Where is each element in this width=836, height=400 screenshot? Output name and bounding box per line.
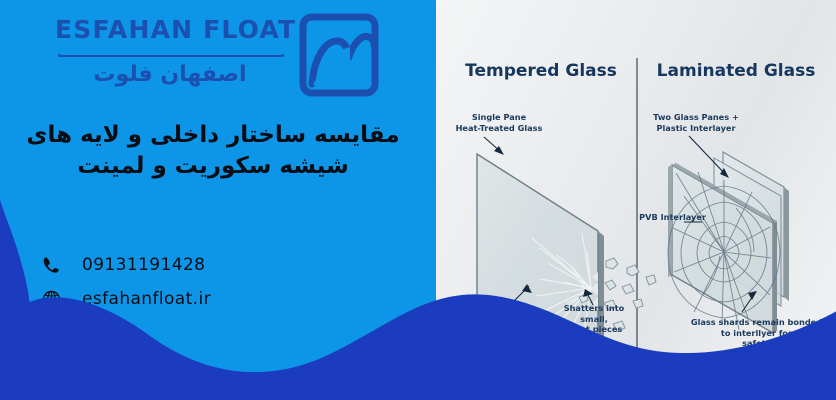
tempered-glass-title: Tempered Glass [446,61,636,81]
laminated-glass-title: Laminated Glass [641,61,831,81]
laminated-glass-illustration [668,136,789,333]
esfahan-float-swoosh-logo-icon [298,13,380,101]
laminated-bonded-annotation: Glass shards remain bondedto interllyer … [684,317,829,349]
contact-website-row[interactable]: esfahanfloat.ir [38,282,298,316]
brand-panel: ESFAHAN FLOAT اصفهان فلوت مقایسه ساختار … [0,0,436,400]
left-edge-blob-2 [0,206,31,400]
laminated-top-annotation: Two Glass Panes +Plastic Interlayer [636,112,756,133]
logo: ESFAHAN FLOAT اصفهان فلوت [55,13,385,103]
laminated-pvb-annotation: PVB Interlayer [626,212,706,223]
contact-list: 09131191428 esfahanfloat.ir [38,248,298,316]
logo-divider-rule [60,55,282,57]
tempered-top-annotation: Single PaneHeat-Treated Glass [444,112,554,133]
contact-phone-row[interactable]: 09131191428 [38,248,298,282]
logo-wordmark: ESFAHAN FLOAT [55,15,285,44]
tempered-high-strength-annotation: High Strength [438,306,534,317]
globe-icon [38,286,64,312]
logo-persian-name: اصفهان فلوت [55,62,285,87]
contact-phone-value: 09131191428 [82,255,205,275]
banner: ESFAHAN FLOAT اصفهان فلوت مقایسه ساختار … [0,0,836,400]
contact-website-value: esfahanfloat.ir [82,289,211,309]
phone-icon [38,252,64,278]
tempered-shatter-annotation: Shatters intosmall,blunt pieces [554,303,634,335]
comparison-diagram-panel: Tempered Glass Laminated Glass Single Pa… [436,0,836,400]
page-title: مقایسه ساختار داخلی و لایه های شیشه سکور… [8,120,418,182]
